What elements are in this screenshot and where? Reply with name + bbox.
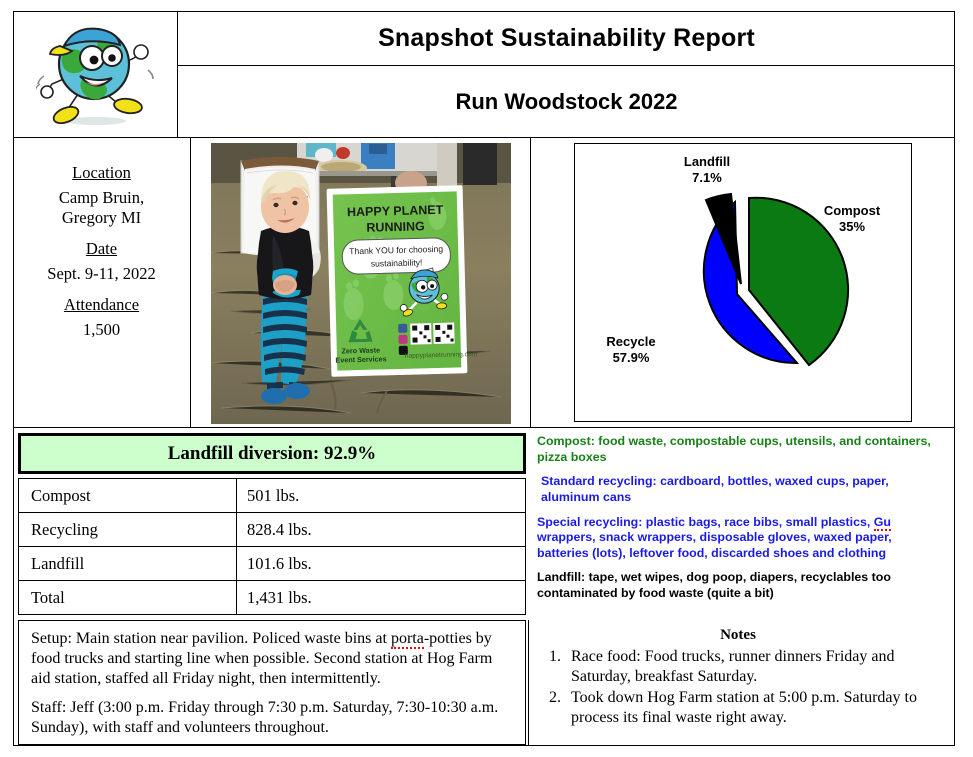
event-name: Run Woodstock 2022	[455, 89, 677, 115]
landfill-stream-text: Landfill: tape, wet wipes, dog poop, dia…	[537, 570, 943, 601]
table-body: Compost 501 lbs. Recycling 828.4 lbs. La…	[19, 479, 526, 615]
landfill-diversion-banner: Landfill diversion: 92.9%	[18, 433, 526, 474]
report-title-cell: Snapshot Sustainability Report	[178, 11, 955, 66]
staff-paragraph: Staff: Jeff (3:00 p.m. Friday through 7:…	[31, 698, 513, 738]
amount-cell: 101.6 lbs.	[237, 547, 526, 581]
date-value: Sept. 9-11, 2022	[13, 264, 190, 284]
pie-label-compost: Compost35%	[799, 203, 905, 235]
location-value: Camp Bruin, Gregory MI	[13, 188, 190, 228]
table-row: Landfill 101.6 lbs.	[19, 547, 526, 581]
photo-content: H	[211, 143, 511, 424]
page-title: Snapshot Sustainability Report	[378, 24, 755, 53]
material-cell: Recycling	[19, 513, 237, 547]
poster-title-line2: RUNNING	[366, 219, 425, 235]
material-cell: Compost	[19, 479, 237, 513]
running-globe-mascot-icon	[36, 18, 154, 130]
event-info-panel: Location Camp Bruin, Gregory MI Date Sep…	[13, 138, 191, 428]
table-row: Recycling 828.4 lbs.	[19, 513, 526, 547]
amount-cell: 1,431 lbs.	[237, 581, 526, 615]
bottom-column-divider	[528, 620, 529, 746]
location-line1: Camp Bruin,	[59, 188, 144, 207]
poster-title-line1: HAPPY PLANET	[346, 203, 443, 220]
waste-stream-descriptions: Compost: food waste, compostable cups, u…	[531, 430, 955, 618]
pie-label-landfill: Landfill7.1%	[653, 154, 761, 186]
misspelled-word: Gu	[874, 515, 891, 531]
report-subtitle-cell: Run Woodstock 2022	[178, 66, 955, 138]
pie-label-recycle: Recycle57.9%	[583, 334, 679, 366]
special-recycling-stream-text: Special recycling: plastic bags, race bi…	[537, 515, 943, 562]
setup-staff-panel: Setup: Main station near pavilion. Polic…	[18, 620, 526, 745]
list-item: Race food: Food trucks, runner dinners F…	[565, 647, 941, 687]
chart-cell: Landfill7.1% Compost35% Recycle57.9%	[531, 138, 955, 428]
table-row: Compost 501 lbs.	[19, 479, 526, 513]
compost-stream-text: Compost: food waste, compostable cups, u…	[537, 434, 943, 465]
location-label: Location	[13, 163, 190, 183]
logo-cell	[13, 11, 178, 138]
waste-pie-chart: Landfill7.1% Compost35% Recycle57.9%	[574, 143, 912, 422]
notes-heading: Notes	[535, 626, 941, 645]
misspelled-word: porta	[391, 630, 424, 649]
list-item: Took down Hog Farm station at 5:00 p.m. …	[565, 688, 941, 728]
event-photo: H	[211, 143, 511, 424]
notes-list: Race food: Food trucks, runner dinners F…	[535, 647, 941, 728]
notes-panel: Notes Race food: Food trucks, runner din…	[531, 620, 955, 745]
amount-cell: 828.4 lbs.	[237, 513, 526, 547]
date-label: Date	[13, 239, 190, 259]
table-row: Total 1,431 lbs.	[19, 581, 526, 615]
attendance-label: Attendance	[13, 295, 190, 315]
standard-recycling-stream-text: Standard recycling: cardboard, bottles, …	[537, 474, 943, 505]
landfill-diversion-text: Landfill diversion: 92.9%	[168, 443, 377, 465]
location-line2: Gregory MI	[62, 208, 141, 227]
amount-cell: 501 lbs.	[237, 479, 526, 513]
poster-footer-line2: Event Services	[335, 354, 386, 364]
material-cell: Landfill	[19, 547, 237, 581]
report-page: Snapshot Sustainability Report Run Woods…	[0, 0, 973, 757]
attendance-value: 1,500	[13, 320, 190, 340]
poster-bubble-line2: sustainability!	[370, 257, 422, 268]
waste-weights-table: Compost 501 lbs. Recycling 828.4 lbs. La…	[18, 478, 526, 615]
setup-paragraph: Setup: Main station near pavilion. Polic…	[31, 629, 513, 689]
material-cell: Total	[19, 581, 237, 615]
photo-cell: H	[191, 138, 531, 428]
